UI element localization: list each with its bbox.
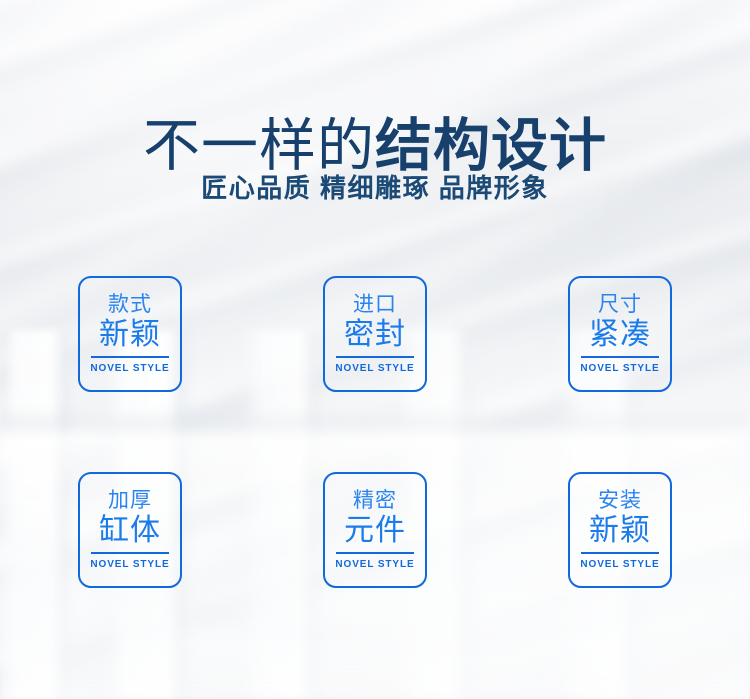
card-english-label: NOVEL STYLE <box>335 364 414 374</box>
card-main-label: 新颖 <box>589 515 651 547</box>
card-main-label: 缸体 <box>99 515 161 547</box>
card-english-label: NOVEL STYLE <box>580 364 659 374</box>
card-top-label: 尺寸 <box>598 294 642 315</box>
card-english-label: NOVEL STYLE <box>90 364 169 374</box>
page-subtitle: 匠心品质 精细雕琢 品牌形象 <box>0 168 750 205</box>
card-main-label: 紧凑 <box>589 319 651 351</box>
banner-content: 不一样的结构设计 匠心品质 精细雕琢 品牌形象 款式 新颖 NOVEL STYL… <box>0 0 750 699</box>
card-main-label: 新颖 <box>99 319 161 351</box>
card-main-label: 密封 <box>344 319 406 351</box>
feature-card-row: 款式 新颖 NOVEL STYLE 进口 密封 NOVEL STYLE 尺寸 紧… <box>78 276 672 392</box>
feature-card-jingmi-yuanjian[interactable]: 精密 元件 NOVEL STYLE <box>323 472 427 588</box>
feature-card-kuanshi-xinying[interactable]: 款式 新颖 NOVEL STYLE <box>78 276 182 392</box>
card-top-label: 款式 <box>108 294 152 315</box>
card-english-label: NOVEL STYLE <box>90 560 169 570</box>
card-english-label: NOVEL STYLE <box>580 560 659 570</box>
card-top-label: 加厚 <box>108 490 152 511</box>
card-english-label: NOVEL STYLE <box>335 560 414 570</box>
feature-card-chicun-jincou[interactable]: 尺寸 紧凑 NOVEL STYLE <box>568 276 672 392</box>
feature-card-row: 加厚 缸体 NOVEL STYLE 精密 元件 NOVEL STYLE 安装 新… <box>78 472 672 588</box>
card-main-label: 元件 <box>344 515 406 547</box>
card-divider <box>336 356 414 358</box>
card-divider <box>581 552 659 554</box>
card-top-label: 安装 <box>598 490 642 511</box>
card-divider <box>91 552 169 554</box>
promo-banner: 不一样的结构设计 匠心品质 精细雕琢 品牌形象 款式 新颖 NOVEL STYL… <box>0 0 750 699</box>
card-top-label: 进口 <box>353 294 397 315</box>
feature-card-grid: 款式 新颖 NOVEL STYLE 进口 密封 NOVEL STYLE 尺寸 紧… <box>78 276 672 588</box>
card-divider <box>91 356 169 358</box>
feature-card-jinkou-mifeng[interactable]: 进口 密封 NOVEL STYLE <box>323 276 427 392</box>
card-divider <box>336 552 414 554</box>
card-top-label: 精密 <box>353 490 397 511</box>
feature-card-jiahou-gangti[interactable]: 加厚 缸体 NOVEL STYLE <box>78 472 182 588</box>
card-divider <box>581 356 659 358</box>
feature-card-anzhuang-xinying[interactable]: 安装 新颖 NOVEL STYLE <box>568 472 672 588</box>
